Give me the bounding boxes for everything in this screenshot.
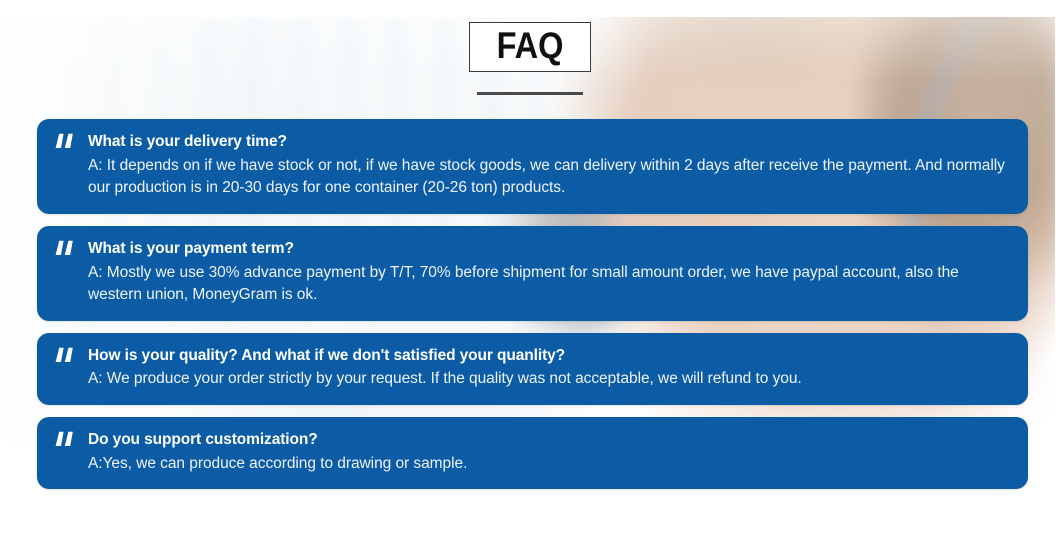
faq-item-content: What is your delivery time? A: It depend… <box>85 132 1010 200</box>
faq-question: How is your quality? And what if we don'… <box>88 346 1010 366</box>
faq-item[interactable]: How is your quality? And what if we don'… <box>37 333 1028 405</box>
faq-item-content: What is your payment term? A: Mostly we … <box>85 239 1010 307</box>
faq-answer: A: Mostly we use 30% advance payment by … <box>88 262 1010 307</box>
faq-item[interactable]: What is your payment term? A: Mostly we … <box>37 226 1028 321</box>
faq-item[interactable]: Do you support customization? A:Yes, we … <box>37 417 1028 489</box>
faq-question: What is your payment term? <box>88 239 1010 259</box>
faq-title-box: FAQ <box>469 22 591 72</box>
faq-item-content: Do you support customization? A:Yes, we … <box>85 430 1010 475</box>
top-white-strip <box>0 0 1060 17</box>
faq-question: What is your delivery time? <box>88 132 1010 152</box>
faq-answer: A:Yes, we can produce according to drawi… <box>88 453 1010 475</box>
faq-question: Do you support customization? <box>88 430 1010 450</box>
quote-mark-icon <box>55 346 85 363</box>
faq-page: FAQ What is your delivery time? A: It de… <box>0 0 1060 549</box>
faq-item-content: How is your quality? And what if we don'… <box>85 346 1010 391</box>
quote-mark-icon <box>55 430 85 447</box>
faq-answer: A: It depends on if we have stock or not… <box>88 155 1010 200</box>
faq-item[interactable]: What is your delivery time? A: It depend… <box>37 119 1028 214</box>
faq-answer: A: We produce your order strictly by you… <box>88 368 1010 390</box>
quote-mark-icon <box>55 239 85 256</box>
faq-list: What is your delivery time? A: It depend… <box>37 119 1028 501</box>
heading-divider <box>477 92 583 95</box>
quote-mark-icon <box>55 132 85 149</box>
page-title: FAQ <box>497 27 564 64</box>
section-heading: FAQ <box>0 22 1060 95</box>
